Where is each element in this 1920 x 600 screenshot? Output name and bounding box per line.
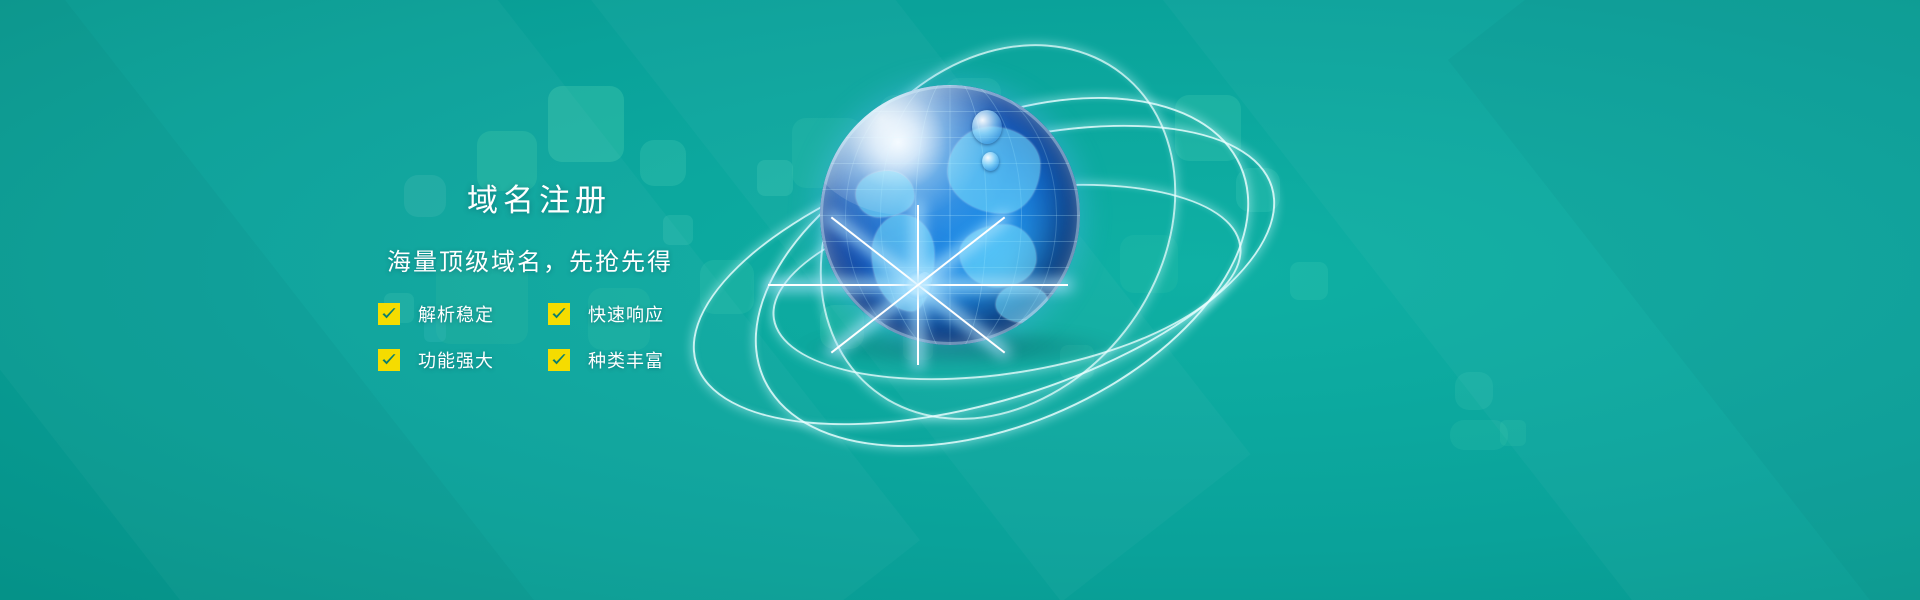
feature-label: 快速响应	[588, 301, 664, 327]
feature-item-powerful: 功能强大	[378, 347, 548, 373]
page-subtitle: 海量顶级域名，先抢先得	[350, 242, 710, 277]
feature-item-stable-resolution: 解析稳定	[378, 301, 548, 327]
check-icon	[378, 349, 400, 371]
check-icon	[548, 303, 570, 325]
feature-list: 解析稳定 快速响应 功能强大 种类丰富	[378, 301, 710, 373]
globe-rim	[820, 85, 1080, 345]
feature-label: 功能强大	[418, 347, 494, 373]
banner-copy: 域名注册 海量顶级域名，先抢先得 解析稳定 快速响应 功能强大	[350, 175, 710, 373]
globe-illustration	[700, 40, 1320, 510]
globe-sphere	[820, 85, 1080, 345]
domain-registration-banner: 域名注册 海量顶级域名，先抢先得 解析稳定 快速响应 功能强大	[0, 0, 1920, 600]
check-icon	[378, 303, 400, 325]
feature-item-rich-variety: 种类丰富	[548, 347, 718, 373]
feature-label: 解析稳定	[418, 301, 494, 327]
feature-item-fast-response: 快速响应	[548, 301, 718, 327]
page-title: 域名注册	[350, 175, 710, 220]
water-droplet-small	[982, 152, 999, 171]
check-icon	[548, 349, 570, 371]
water-droplet-large	[972, 110, 1002, 144]
feature-label: 种类丰富	[588, 347, 664, 373]
